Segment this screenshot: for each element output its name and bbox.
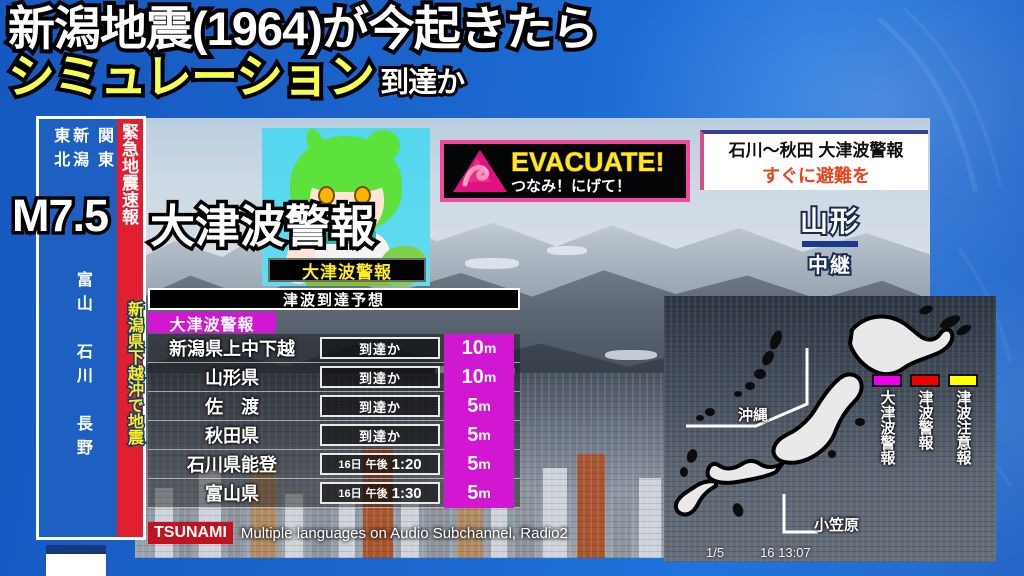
- eew-epicenter-label: 新潟県下越沖で地震: [125, 301, 141, 445]
- table-cell-arrival-time: 到達か: [320, 337, 440, 359]
- wave-height-value: 5: [467, 453, 478, 476]
- magnitude-overlay: M7.5: [12, 190, 108, 242]
- table-cell-arrival-time: 到達か: [320, 366, 440, 388]
- table-cell-arrival-time: 到達か: [320, 395, 440, 417]
- tsunami-triangle-icon: [451, 148, 509, 194]
- table-body: 新潟県上中下越到達か10m山形県到達か10m佐 渡到達か5m秋田県到達か5m石川…: [148, 334, 520, 508]
- warning-notice-box: 石川〜秋田 大津波警報 すぐに避難を: [700, 130, 928, 190]
- table-cell-clock: 1:30: [392, 485, 422, 502]
- evacuate-banner: EVACUATE! つなみ！にげて！: [440, 140, 690, 202]
- table-cell-wave-height: 5m: [444, 450, 514, 479]
- ticker-text: Multiple languages on Audio Subchannel, …: [233, 525, 568, 542]
- legend-item: 津波注意報: [948, 374, 978, 465]
- map-clock: 16 13:07: [760, 545, 811, 560]
- headline-line1: 新潟地震(1964)が今起きたら: [8, 6, 598, 52]
- snow-patch: [547, 246, 587, 255]
- table-cell-clock: 1:20: [392, 456, 422, 473]
- headline: 新潟地震(1964)が今起きたら シミュレーション 到達か: [8, 6, 598, 100]
- table-row: 富山県16日午後1:305m: [148, 479, 520, 508]
- eew-regions: 関東 新潟 東北 富山 石川 長野: [39, 119, 117, 537]
- tsunami-ticker: TSUNAMI Multiple languages on Audio Subc…: [148, 521, 568, 545]
- table-cell-arrival-time: 到達か: [320, 424, 440, 446]
- evacuate-english-text: EVACUATE!: [511, 149, 686, 176]
- table-cell-area: 秋田県: [148, 422, 316, 448]
- wave-height-value: 5: [467, 395, 478, 418]
- table-row: 秋田県到達か5m: [148, 421, 520, 450]
- earthquake-early-warning-panel: 関東 新潟 東北 富山 石川 長野 緊急地震速報 新潟県下越沖で地震: [36, 116, 146, 540]
- ticker-tag: TSUNAMI: [148, 522, 233, 544]
- snow-patch: [605, 350, 657, 360]
- wave-height-value: 10: [462, 366, 484, 389]
- broadcast-screen: 新潟地震(1964)が今起きたら シミュレーション 到達か 関東 新潟 東北 富…: [0, 0, 1024, 576]
- wave-height-value: 5: [467, 482, 478, 505]
- map-page-indicator: 1/5: [706, 545, 724, 560]
- relay-underline: [802, 241, 858, 247]
- table-cell-area: 富山県: [148, 480, 316, 506]
- table-cell-arrival-time: 16日午後1:30: [320, 482, 440, 504]
- table-cell-wave-height: 10m: [444, 363, 514, 392]
- table-cell-area: 佐 渡: [148, 393, 316, 419]
- wave-height-value: 5: [467, 424, 478, 447]
- legend-color-swatch: [948, 374, 978, 387]
- table-cell-wave-height: 5m: [444, 479, 514, 508]
- table-cell-wave-height: 10m: [444, 334, 514, 363]
- table-row: 山形県到達か10m: [148, 363, 520, 392]
- map-footer: 1/5 16 13:07: [664, 545, 996, 560]
- tsunami-arrival-table: 津波到達予想 大津波警報 新潟県上中下越到達か10m山形県到達か10m佐 渡到達…: [148, 288, 520, 508]
- legend-color-swatch: [872, 374, 902, 387]
- evacuate-japanese-text: つなみ！にげて！: [511, 179, 686, 194]
- table-cell-day: 16日: [338, 485, 361, 501]
- headline-line2: シミュレーション: [8, 54, 374, 100]
- table-title: 津波到達予想: [148, 288, 520, 310]
- table-cell-day: 16日: [338, 456, 361, 472]
- table-row: 佐 渡到達か5m: [148, 392, 520, 421]
- map-label-okinawa: 沖縄: [738, 404, 768, 425]
- eew-strip-label: 緊急地震速報: [117, 119, 140, 229]
- table-cell-area: 石川県能登: [148, 451, 316, 477]
- table-cell-ampm: 午後: [366, 456, 388, 472]
- legend-item: 大津波警報: [872, 374, 902, 465]
- relay-sub-label: 中継: [800, 249, 860, 278]
- table-cell-wave-height: 5m: [444, 392, 514, 421]
- wave-height-unit: m: [484, 340, 496, 356]
- wave-height-value: 10: [462, 337, 484, 360]
- legend-label: 津波警報: [918, 390, 933, 450]
- wave-height-unit: m: [478, 398, 490, 414]
- relay-place-name: 山形: [800, 200, 860, 240]
- table-warning-badge: 大津波警報: [148, 312, 276, 333]
- wave-height-unit: m: [478, 485, 490, 501]
- table-row: 新潟県上中下越到達か10m: [148, 334, 520, 363]
- table-cell-area: 新潟県上中下越: [148, 335, 316, 361]
- legend-label: 津波注意報: [956, 390, 971, 465]
- map-legend: 大津波警報津波警報津波注意報: [872, 374, 978, 465]
- legend-item: 津波警報: [910, 374, 940, 465]
- snow-patch: [465, 258, 519, 269]
- wave-height-unit: m: [484, 369, 496, 385]
- japan-tsunami-map-panel: 沖縄 小笠原 大津波警報津波警報津波注意報 1/5 16 13:07: [664, 296, 996, 562]
- table-cell-wave-height: 5m: [444, 421, 514, 450]
- notice-region-line: 石川〜秋田 大津波警報: [729, 136, 904, 161]
- major-tsunami-warning-overlay: 大津波警報: [150, 190, 375, 255]
- table-cell-ampm: 午後: [366, 485, 388, 501]
- wave-height-unit: m: [478, 427, 490, 443]
- table-row: 石川県能登16日午後1:205m: [148, 450, 520, 479]
- eew-footer-block: [46, 545, 106, 576]
- wave-height-unit: m: [478, 456, 490, 472]
- notice-action-line: すぐに避難を: [762, 162, 870, 188]
- map-label-ogasawara: 小笠原: [814, 514, 859, 535]
- eew-region-col3: 富山 石川 長野: [69, 269, 94, 465]
- table-cell-arrival-time: 16日午後1:20: [320, 453, 440, 475]
- character-warning-label: 大津波警報: [268, 258, 426, 282]
- legend-label: 大津波警報: [880, 390, 895, 465]
- relay-location: 山形 中継: [800, 200, 860, 278]
- headline-sub: 到達か: [380, 69, 464, 100]
- table-cell-area: 山形県: [148, 364, 316, 390]
- legend-color-swatch: [910, 374, 940, 387]
